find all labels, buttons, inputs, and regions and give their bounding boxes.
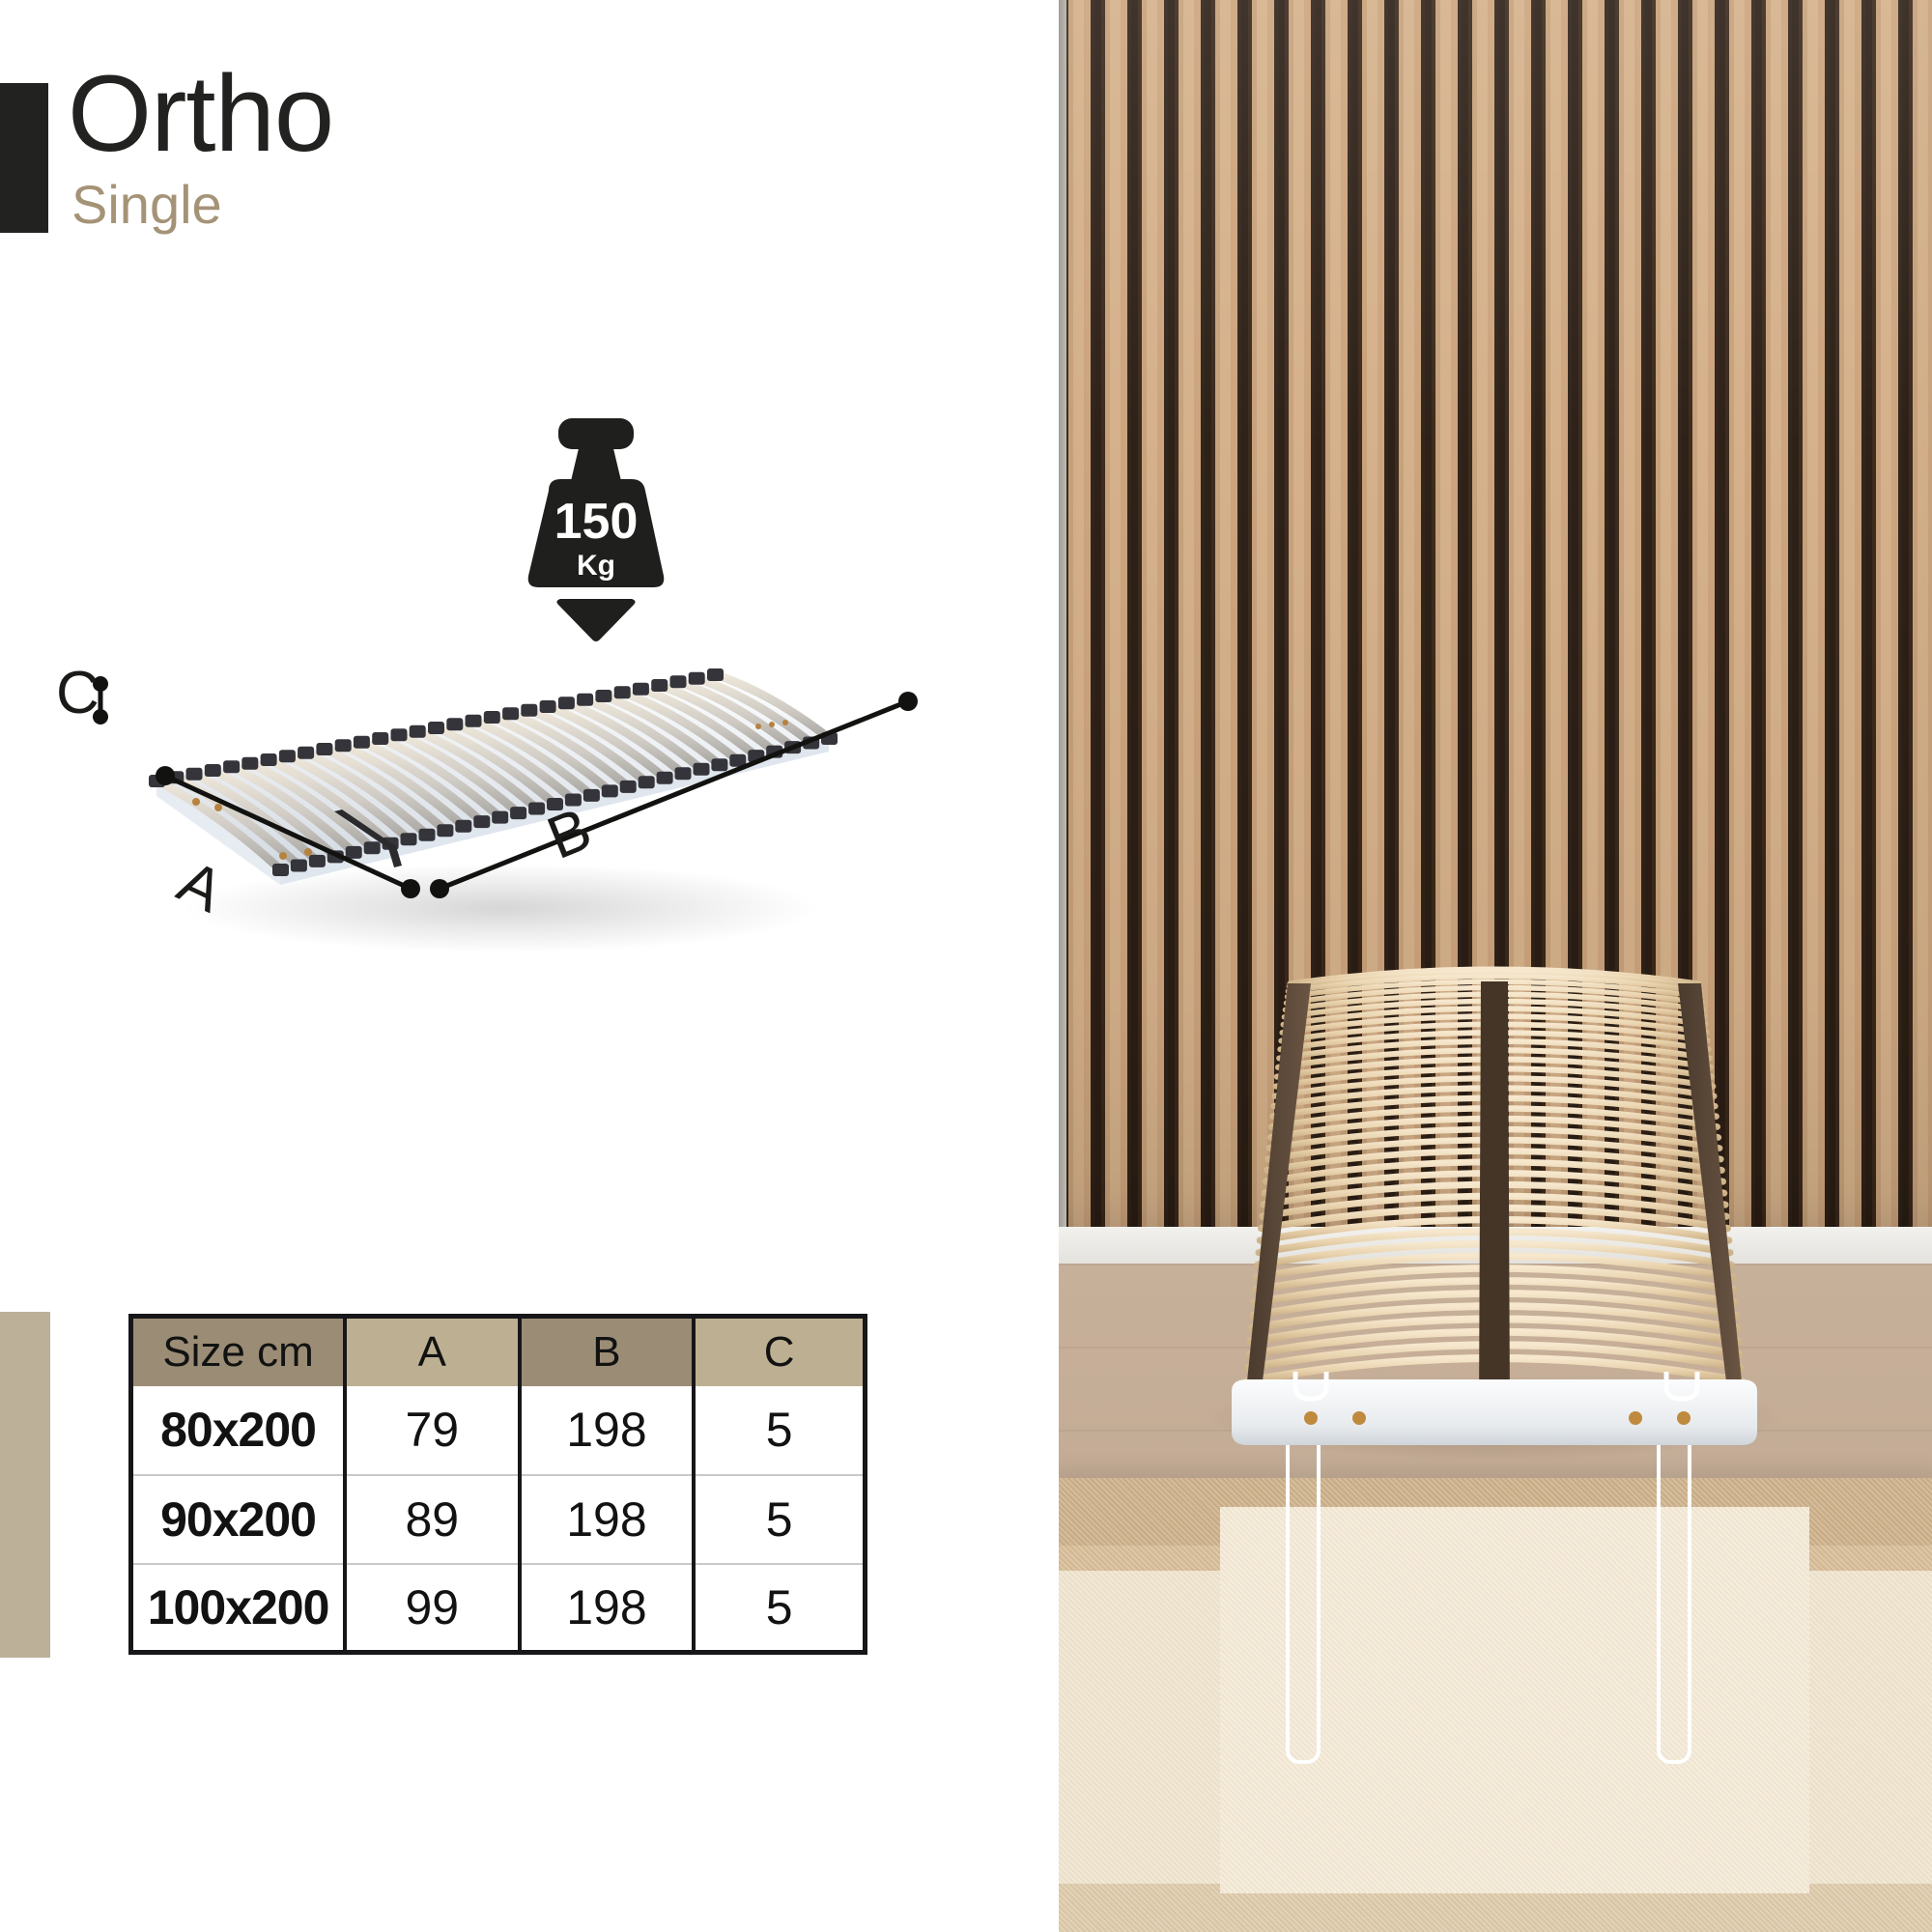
table-header-row: Size cm A B C [131, 1317, 866, 1386]
weight-capacity-badge: 150 Kg [514, 415, 697, 647]
arrow-down-icon [556, 599, 635, 641]
table-row: 90x200 89 198 5 [131, 1475, 866, 1564]
dimension-label-a: A [168, 848, 233, 925]
ghost-leg-right [1657, 1445, 1691, 1764]
size-table: Size cm A B C 80x200 79 198 5 90x200 89 … [128, 1314, 867, 1655]
weight-unit: Kg [577, 550, 615, 582]
weight-icon: 150 Kg [514, 415, 697, 647]
table-accent-block [0, 1312, 50, 1658]
table-row: 100x200 99 198 5 [131, 1564, 866, 1653]
cell-c: 5 [694, 1475, 865, 1564]
cell-b: 198 [520, 1564, 695, 1653]
slatted-bed-base-photo [1058, 966, 1932, 1546]
cell-a: 89 [345, 1475, 519, 1564]
lifestyle-photo [1058, 0, 1932, 1932]
ghost-leg-left [1286, 1445, 1321, 1764]
cell-a: 79 [345, 1386, 519, 1475]
cell-c: 5 [694, 1564, 865, 1653]
spec-panel: Ortho Single 150 Kg [0, 0, 1058, 1932]
dimension-label-b: B [538, 796, 600, 872]
cell-size: 80x200 [131, 1386, 346, 1475]
cell-b: 198 [520, 1386, 695, 1475]
column-header-a: A [345, 1317, 519, 1386]
cell-size: 90x200 [131, 1475, 346, 1564]
product-spec-sheet: Ortho Single 150 Kg [0, 0, 1932, 1932]
weight-value: 150 [554, 494, 639, 550]
column-header-b: B [520, 1317, 695, 1386]
column-header-c: C [694, 1317, 865, 1386]
dimension-annotations: C A B [0, 638, 1058, 947]
dimension-label-c: C [56, 660, 99, 726]
cell-c: 5 [694, 1386, 865, 1475]
cell-a: 99 [345, 1564, 519, 1653]
cell-b: 198 [520, 1475, 695, 1564]
page-title: Ortho [68, 60, 333, 168]
title-group: Ortho Single [68, 60, 333, 232]
product-subtitle: Single [71, 178, 333, 232]
bed-center-strap [1479, 981, 1510, 1410]
dimension-c: C [56, 660, 108, 726]
dimension-b: B [430, 692, 918, 898]
cell-size: 100x200 [131, 1564, 346, 1653]
title-accent-block [0, 83, 48, 233]
dimension-a: A [156, 766, 420, 925]
column-header-size: Size cm [131, 1317, 346, 1386]
table-row: 80x200 79 198 5 [131, 1386, 866, 1475]
panel-divider [1056, 0, 1059, 1932]
